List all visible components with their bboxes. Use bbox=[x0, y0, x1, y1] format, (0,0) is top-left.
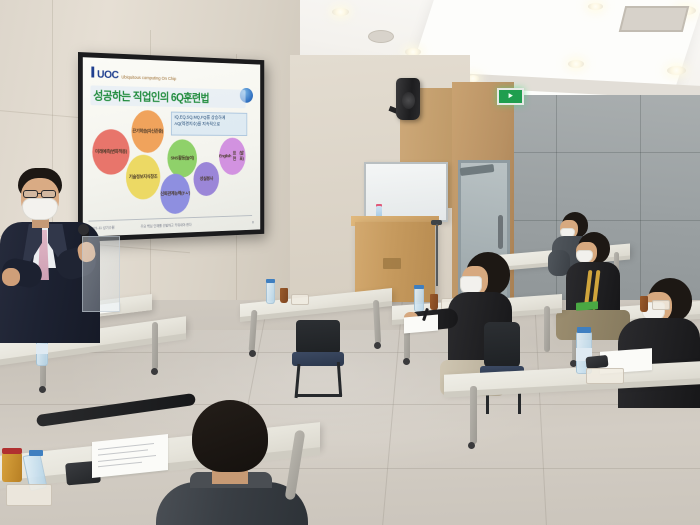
seminar-room-photo: ⯈ UOC Ubiquitous computing On Chip 성공하는 … bbox=[0, 0, 700, 525]
desk-leg bbox=[470, 386, 477, 444]
bubble-sns-activity: SNS활동(놀이) bbox=[167, 139, 197, 177]
slide-footer-page: 8 bbox=[252, 220, 254, 224]
speaker-cone-icon bbox=[402, 92, 415, 109]
exit-sign: ⯈ bbox=[497, 88, 524, 105]
callout-line-2: AQ(역경지수)를 지속적으로 bbox=[174, 121, 244, 128]
green-name-card bbox=[576, 301, 598, 311]
bubble-english-expression: English표현(발표) bbox=[219, 138, 246, 175]
microphone-stand bbox=[436, 224, 438, 286]
bubble-technology-info: 기술정보지식창조 bbox=[126, 155, 160, 200]
slide-callout-box: IQ,EQ,SQ,MQ,FQ를 상승하게 AQ(역경지수)를 지속적으로 bbox=[171, 112, 247, 136]
attendee-foreground-head bbox=[192, 400, 268, 472]
glasses-bridge-icon bbox=[38, 193, 42, 194]
acrylic-partition bbox=[82, 236, 120, 312]
attendee-foreground bbox=[150, 400, 310, 525]
chair-leg bbox=[296, 394, 342, 397]
slide-footer-center: 주요 핵심 인재를 선발하고 키워내야 한다 bbox=[141, 222, 192, 229]
smartphone[interactable] bbox=[585, 355, 608, 369]
bottle-cap-icon bbox=[414, 285, 424, 289]
handout-paper bbox=[404, 315, 438, 334]
chair-back[interactable] bbox=[296, 320, 340, 354]
beverage-bottle bbox=[280, 288, 288, 303]
wall-panel-seam bbox=[640, 95, 641, 310]
desk-caster bbox=[468, 442, 475, 449]
bubble-sincerity-service: 성실봉사 bbox=[194, 162, 220, 196]
ceiling-downlight bbox=[667, 66, 686, 75]
slide-logo: UOC Ubiquitous computing On Chip bbox=[91, 67, 176, 84]
desk-leg bbox=[544, 306, 550, 352]
podium-emblem-icon bbox=[383, 258, 401, 269]
beverage-bottle bbox=[430, 294, 438, 310]
chair-back[interactable] bbox=[484, 322, 520, 368]
water-bottle bbox=[266, 282, 275, 304]
snack-pack bbox=[652, 300, 670, 310]
desk-caster bbox=[39, 386, 46, 393]
bottle-label bbox=[36, 344, 48, 354]
snack-pack bbox=[291, 294, 309, 305]
ceiling-air-diffuser bbox=[619, 6, 689, 32]
wall-panel-seam bbox=[556, 95, 557, 310]
beverage-bottle bbox=[640, 296, 648, 312]
bottle-cap-icon bbox=[577, 327, 591, 333]
jar-lid-icon bbox=[2, 448, 22, 454]
presenter-hand-left bbox=[2, 268, 20, 286]
ceiling-downlight bbox=[332, 8, 349, 16]
slide-footer-divider bbox=[89, 215, 253, 222]
desk-caster bbox=[249, 350, 256, 357]
desk-caster bbox=[151, 368, 158, 375]
floor-tile-line bbox=[0, 352, 700, 353]
snack-pack bbox=[586, 368, 624, 384]
bottle-cap-icon bbox=[29, 450, 43, 456]
desk-caster bbox=[374, 342, 381, 349]
desk-leg bbox=[152, 322, 158, 370]
water-bottle bbox=[414, 288, 424, 312]
snack-pack bbox=[6, 484, 52, 506]
logo-bar-icon bbox=[91, 67, 94, 78]
door-handle[interactable] bbox=[498, 215, 503, 249]
glasses-lens-right-icon bbox=[41, 190, 56, 198]
jar-snack bbox=[2, 452, 22, 482]
logo-tagline: Ubiquitous computing On Chip bbox=[121, 74, 176, 81]
desk-caster bbox=[403, 358, 410, 365]
ceiling-downlight bbox=[588, 3, 603, 10]
ceiling-downlight bbox=[568, 60, 584, 68]
bubble-persistence: 끈기학습(자신존중) bbox=[131, 110, 163, 153]
exit-runner-icon: ⯈ bbox=[507, 92, 514, 101]
microphone-head-icon bbox=[78, 224, 89, 235]
glasses-lens-left-icon bbox=[23, 190, 38, 198]
bubble-trust-relation: 신뢰관계능력(3'ㅅ') bbox=[160, 174, 190, 215]
presenter-face-mask bbox=[22, 198, 58, 220]
ceiling-vent bbox=[368, 30, 394, 43]
slide-title: 성공하는 직업인의 6Q훈련법 bbox=[93, 87, 245, 106]
bottle-cap-icon bbox=[266, 279, 275, 283]
logo-brand-text: UOC bbox=[97, 69, 118, 82]
